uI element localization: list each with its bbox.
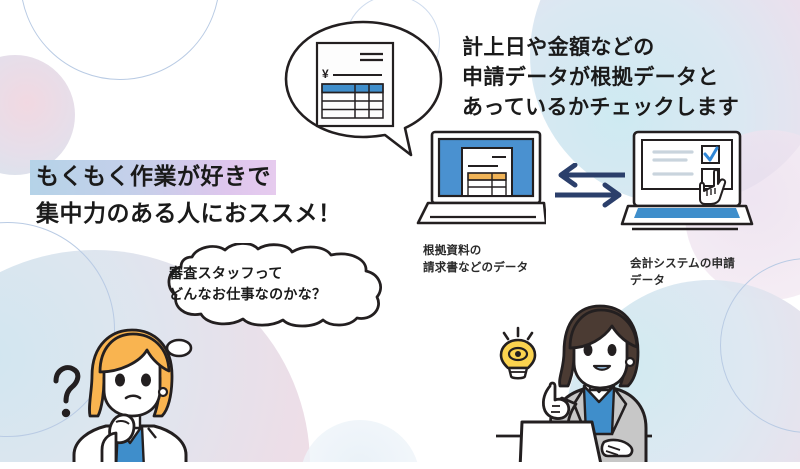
- laptop-accounting-system: [614, 128, 756, 240]
- invoice-document-icon: ¥: [317, 43, 393, 126]
- caption-evidence-data: 根拠資料の 請求書などのデータ: [423, 243, 528, 278]
- tagline-highlighted-line: もくもく作業が好きで: [30, 160, 276, 195]
- headline-line-2: 申請データが根拠データと: [462, 63, 739, 93]
- caption-left-line-1: 根拠資料の: [423, 243, 528, 260]
- laptop-icon: [622, 132, 752, 229]
- character-presenting-woman: [492, 300, 694, 469]
- thought-bubble: 審査スタッフって どんなお仕事なのかな？: [145, 243, 410, 328]
- tagline-line-2: 集中力のある人におススメ！: [30, 198, 342, 230]
- question-mark-icon: [56, 368, 78, 417]
- thought-line-2: どんなお仕事なのかな？: [169, 284, 326, 305]
- headline-line-1: 計上日や金額などの: [462, 33, 739, 63]
- thought-line-1: 審査スタッフって: [169, 263, 326, 284]
- caption-right-line-1: 会計システムの申請: [630, 256, 735, 273]
- background-blob-mid-left: [0, 55, 75, 175]
- headline-text: 計上日や金額などの 申請データが根拠データと あっているかチェックします: [462, 33, 739, 122]
- laptop-icon: [418, 132, 546, 223]
- checkbox-checked-icon: [702, 146, 719, 163]
- caption-right-line-2: データ: [630, 273, 735, 290]
- bottom-edge-strip: [0, 462, 800, 469]
- caption-left-line-2: 請求書などのデータ: [423, 260, 528, 277]
- caption-accounting-system: 会計システムの申請 データ: [630, 256, 735, 291]
- infographic-canvas: 計上日や金額などの 申請データが根拠データと あっているかチェックします もくも…: [0, 0, 800, 469]
- arrow-right-icon: [555, 185, 619, 205]
- svg-text:¥: ¥: [322, 67, 329, 81]
- character-thinking-woman: [44, 318, 216, 469]
- laptop-evidence-data: [414, 128, 546, 236]
- headline-line-3: あっているかチェックします: [462, 93, 739, 123]
